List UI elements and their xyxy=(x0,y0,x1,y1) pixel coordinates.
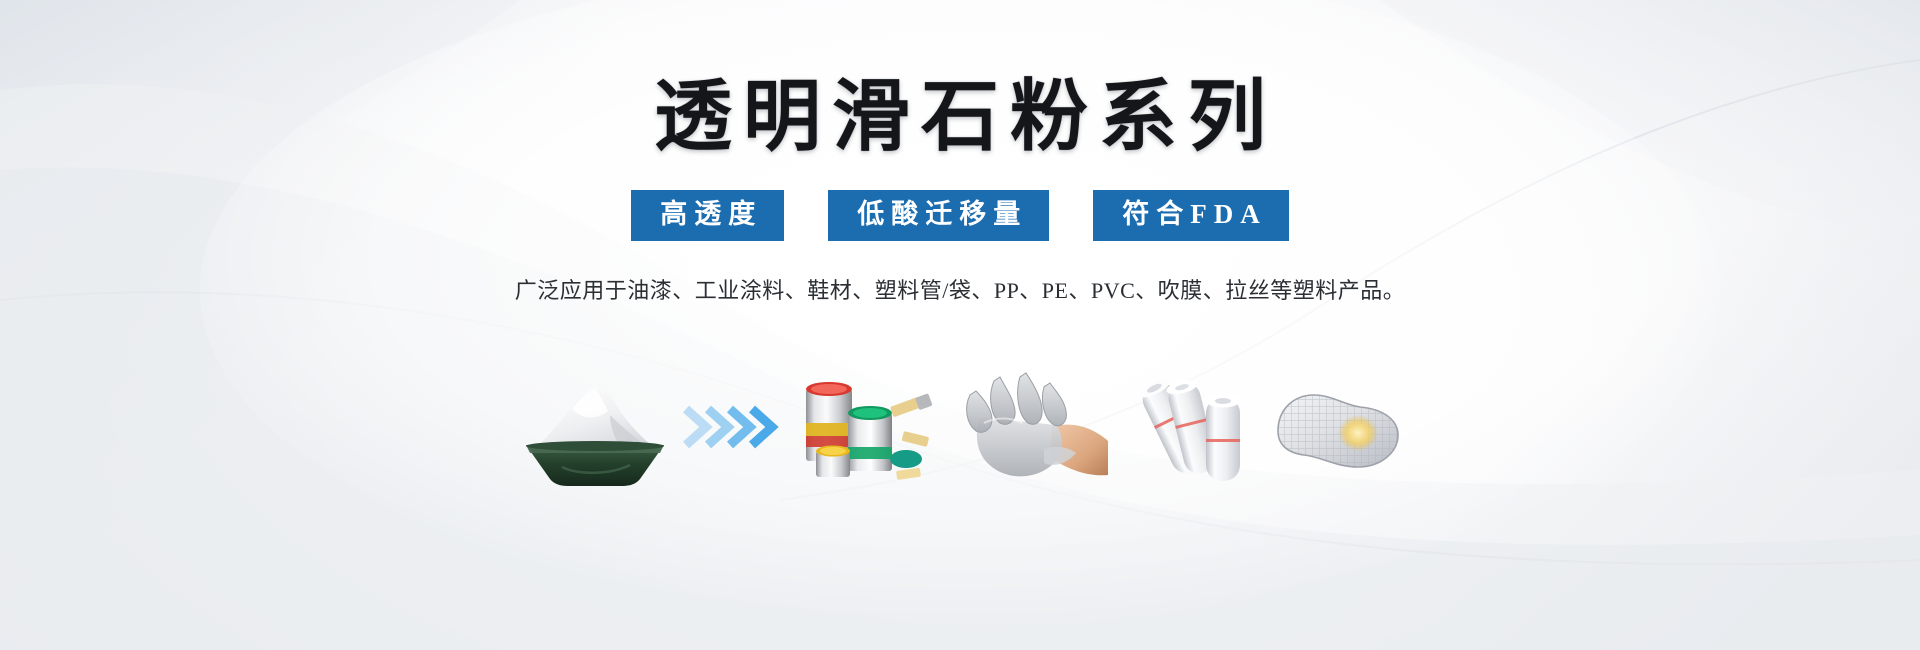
flow-arrows xyxy=(680,367,790,487)
product-film-rolls xyxy=(1110,367,1260,487)
product-shoe-sole xyxy=(1260,367,1410,487)
feature-badge-high-transparency[interactable]: 高透度 xyxy=(631,190,784,241)
page-title: 透明滑石粉系列 xyxy=(643,78,1277,156)
feature-badge-low-acid-migration[interactable]: 低酸迁移量 xyxy=(828,190,1049,241)
shoe-sole-icon xyxy=(1260,375,1410,487)
product-gloved-hand xyxy=(940,367,1110,487)
product-banner: 透明滑石粉系列 高透度 低酸迁移量 符合FDA 广泛应用于油漆、工业涂料、鞋材、… xyxy=(0,0,1920,650)
gloved-hand-icon xyxy=(940,371,1110,487)
product-talc-powder-bowl xyxy=(510,367,680,487)
applications-subtitle: 广泛应用于油漆、工业涂料、鞋材、塑料管/袋、PP、PE、PVC、吹膜、拉丝等塑料… xyxy=(515,273,1406,305)
feature-badge-fda-compliant[interactable]: 符合FDA xyxy=(1093,190,1289,241)
talc-powder-icon xyxy=(510,367,680,487)
product-paint-cans xyxy=(790,367,940,487)
film-rolls-icon xyxy=(1110,367,1260,487)
feature-badge-list: 高透度 低酸迁移量 符合FDA xyxy=(631,190,1289,241)
product-image-strip xyxy=(0,352,1920,487)
paint-cans-icon xyxy=(790,361,940,487)
chevron-arrows-icon xyxy=(680,399,790,455)
banner-content: 透明滑石粉系列 高透度 低酸迁移量 符合FDA 广泛应用于油漆、工业涂料、鞋材、… xyxy=(0,0,1920,650)
